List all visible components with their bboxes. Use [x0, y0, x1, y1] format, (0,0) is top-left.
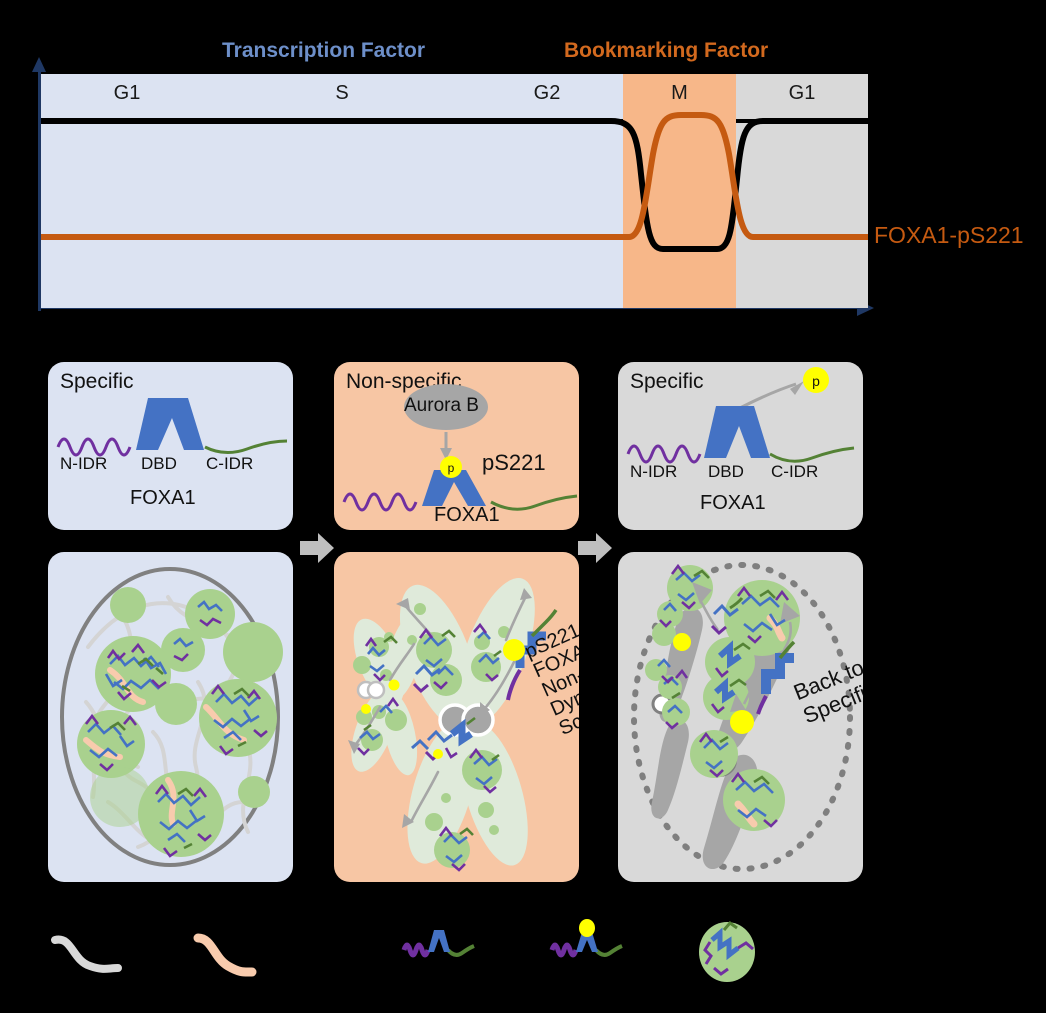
y-axis-arrow-icon — [32, 57, 46, 72]
arrow-panel-2-to-3 — [578, 533, 612, 563]
label-protein-name-3: FOXA1 — [700, 492, 766, 515]
dephosphorylation-arrowhead-icon — [790, 381, 804, 395]
label-c-idr-1: C-IDR — [206, 454, 253, 474]
foxa1-protein-icon — [404, 930, 474, 955]
phospho-dot — [361, 704, 371, 714]
c-idr-line-icon — [491, 496, 577, 509]
panel-mitotic-chromosomes: pS221- FOXA1 Non-spec Dynamic Scanning — [334, 552, 579, 882]
phospho-badge-letter: p — [448, 461, 455, 475]
foxa1-condensate-icon — [699, 922, 755, 982]
label-n-idr-1: N-IDR — [60, 454, 107, 474]
label-c-idr-2: C-IDR — [771, 462, 818, 482]
chart-curves — [41, 74, 868, 308]
ps221-foxa1-protein-icon — [552, 919, 622, 955]
specific-binding-site-icon — [198, 938, 252, 972]
dbd-shape-icon — [704, 406, 770, 458]
legend — [0, 900, 1046, 1008]
label-protein-name-2: FOXA1 — [434, 504, 500, 527]
label-n-idr-2: N-IDR — [630, 462, 677, 482]
panel-specific-post-mitosis: Specific p N-IDR DBD C-IDR FOXA1 — [618, 362, 863, 530]
n-idr-squiggle-icon — [58, 439, 130, 455]
mitotic-chromosome-illustration — [334, 552, 579, 882]
interphase-nucleus-illustration — [48, 552, 293, 882]
n-idr-squiggle-icon — [628, 446, 700, 462]
chart-header-transcription-factor: Transcription Factor — [222, 39, 425, 63]
phospho-dot — [433, 749, 443, 759]
c-idr-line-icon — [205, 441, 287, 453]
label-dbd-1: DBD — [141, 454, 177, 474]
chart-header-bookmarking-factor: Bookmarking Factor — [564, 39, 768, 63]
panel-post-mitotic-nucleus: Back to Specific site — [618, 552, 863, 882]
chromatin-fiber-icon — [55, 940, 118, 969]
n-idr-squiggle-icon — [344, 494, 416, 510]
c-idr-line-icon — [770, 448, 854, 461]
panel-specific-interphase: Specific N-IDR DBD C-IDR FOXA1 — [48, 362, 293, 530]
phospho-dot — [389, 680, 400, 691]
panel-non-specific-mitosis: Non-specific p Aurora B pS221 FOXA1 — [334, 362, 579, 530]
cell-cycle-chart: Transcription Factor Bookmarking Factor … — [0, 0, 1046, 330]
label-protein-name-1: FOXA1 — [130, 487, 196, 510]
dbd-shape-icon — [136, 398, 204, 450]
arrow-panel-1-to-2 — [300, 533, 334, 563]
label-aurora-b: Aurora B — [404, 395, 479, 417]
plot-area: G1 S G2 M G1 — [41, 74, 868, 308]
label-dbd-2: DBD — [708, 462, 744, 482]
label-ps221: pS221 — [482, 450, 546, 476]
panel-interphase-nucleus — [48, 552, 293, 882]
series-label-foxa1-ps221: FOXA1-pS221 — [874, 222, 1024, 249]
legend-icons — [0, 900, 1046, 1008]
phospho-badge-letter: p — [812, 373, 820, 389]
